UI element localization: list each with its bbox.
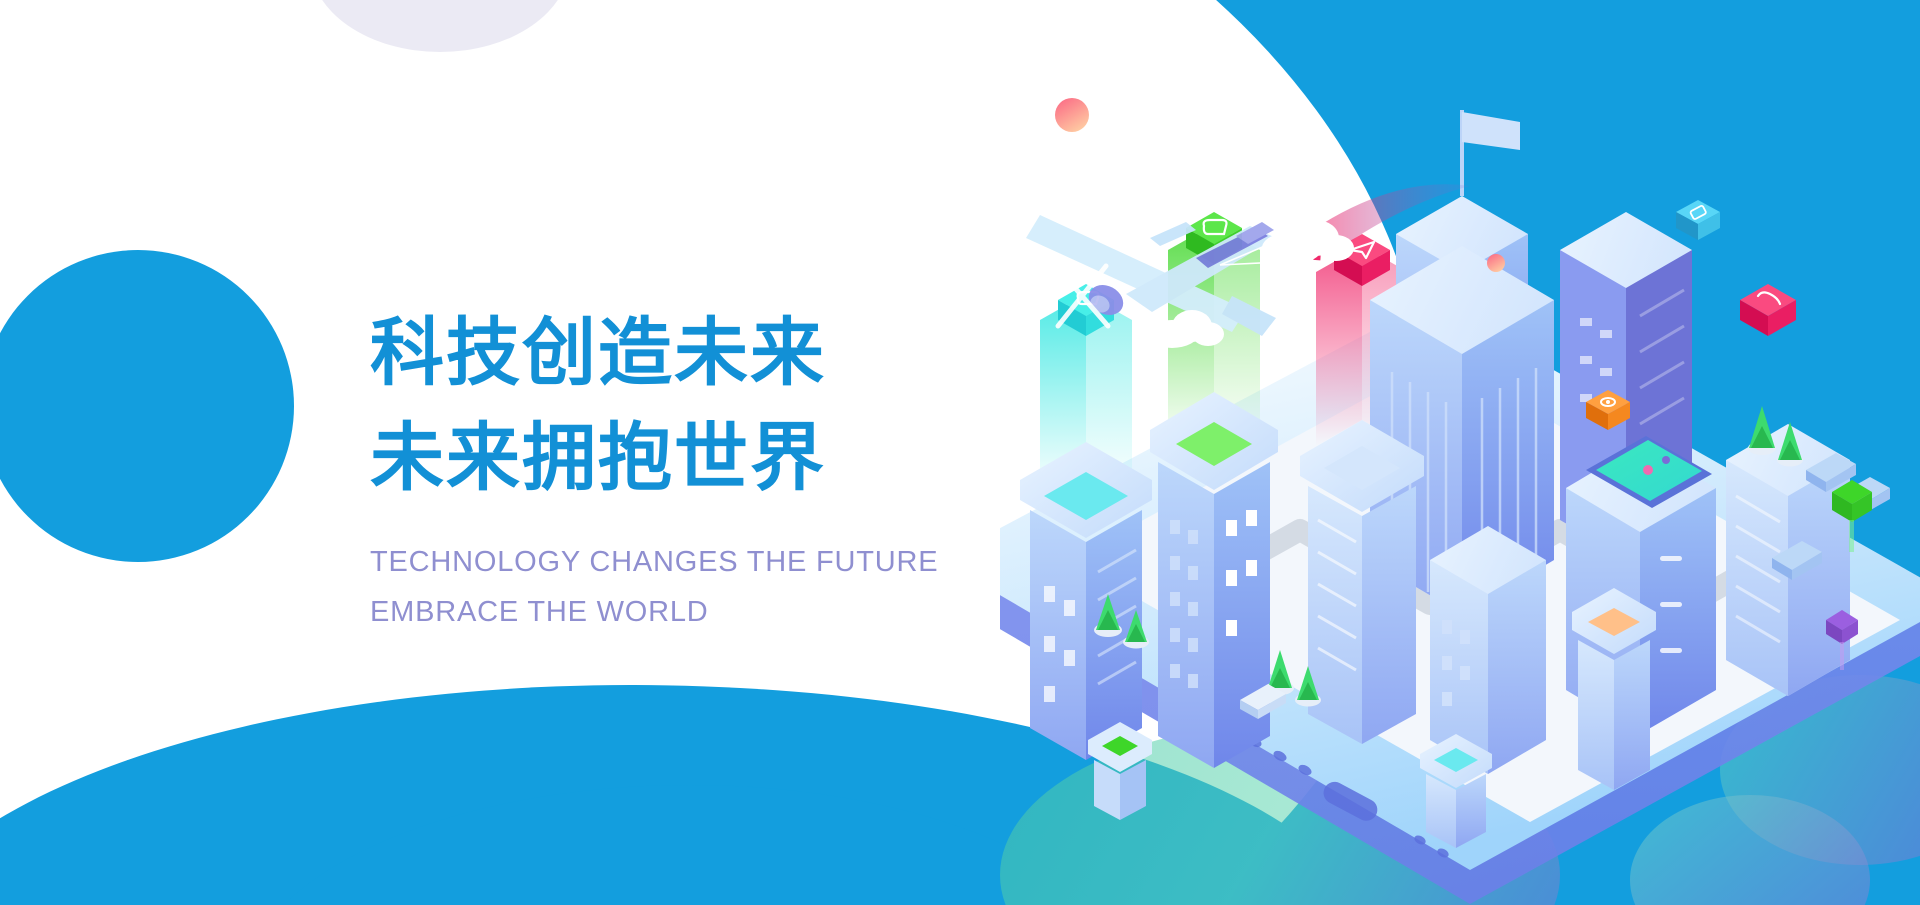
coral-sphere-large <box>1055 98 1089 132</box>
building-green-box <box>1088 722 1152 820</box>
headline-block: 科技创造未来 未来拥抱世界 TECHNOLOGY CHANGES THE FUT… <box>370 300 1070 636</box>
headline-line-2: 未来拥抱世界 <box>370 405 1070 510</box>
building-pink <box>1300 420 1424 744</box>
flag-icon <box>1462 112 1520 150</box>
phone-icon <box>1740 284 1796 336</box>
headline-line-1: 科技创造未来 <box>370 300 1070 405</box>
building-small-cyan <box>1420 734 1492 848</box>
building-orange <box>1572 588 1656 790</box>
hero-banner: 科技创造未来 未来拥抱世界 TECHNOLOGY CHANGES THE FUT… <box>0 0 1920 905</box>
card-icon <box>1676 200 1720 240</box>
coral-sphere-small <box>1487 254 1505 272</box>
building-stepped <box>1430 526 1546 774</box>
subtitle-line-1: TECHNOLOGY CHANGES THE FUTURE <box>370 540 1070 586</box>
subtitle-line-2: EMBRACE THE WORLD <box>370 590 1070 636</box>
isometric-city-illustration <box>1000 0 1920 905</box>
building-cyan <box>1020 442 1152 760</box>
